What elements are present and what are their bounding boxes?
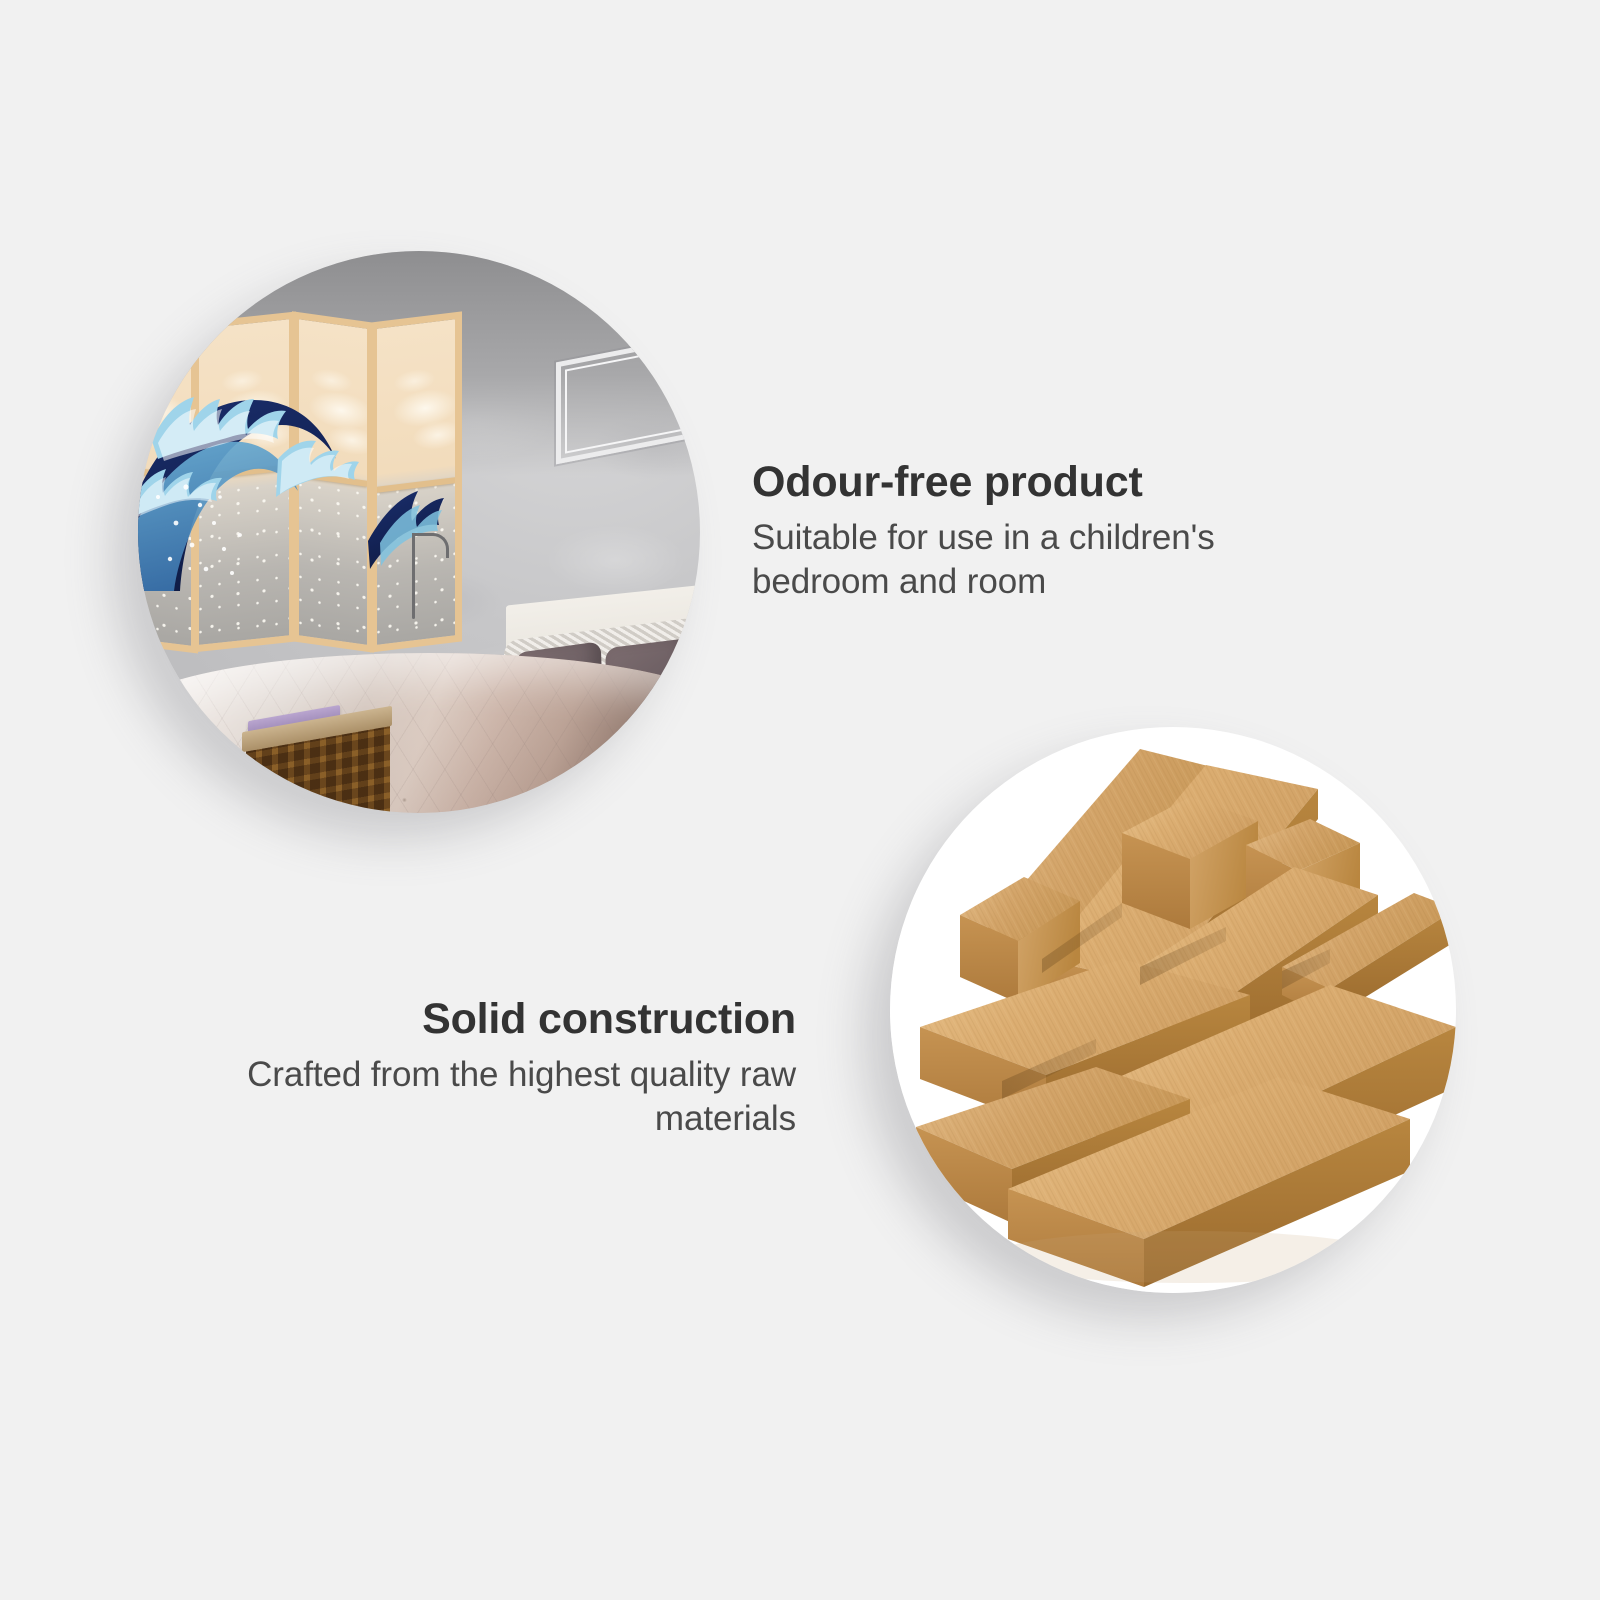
bed xyxy=(138,585,700,813)
feature-title-odour-free: Odour-free product xyxy=(752,458,1312,506)
bedroom-scene xyxy=(138,251,700,813)
feature-graphic-canvas: Odour-free product Suitable for use in a… xyxy=(0,0,1600,1600)
feature-title-solid-construction: Solid construction xyxy=(230,995,796,1043)
timber-scene xyxy=(890,727,1456,1293)
feature-text-odour-free: Odour-free product Suitable for use in a… xyxy=(752,458,1312,603)
feature-image-odour-free xyxy=(138,251,700,813)
feature-description-odour-free: Suitable for use in a children's bedroom… xyxy=(752,516,1312,603)
patchwork-quilt xyxy=(138,653,700,813)
feature-text-solid-construction: Solid construction Crafted from the high… xyxy=(230,995,796,1140)
stacked-timber-planks xyxy=(890,727,1456,1293)
feature-image-solid-construction xyxy=(890,727,1456,1293)
feature-description-solid-construction: Crafted from the highest quality raw mat… xyxy=(230,1053,796,1140)
wooden-bench xyxy=(242,706,392,813)
lamp-arm xyxy=(412,533,449,558)
quilt-highlight xyxy=(138,653,700,813)
